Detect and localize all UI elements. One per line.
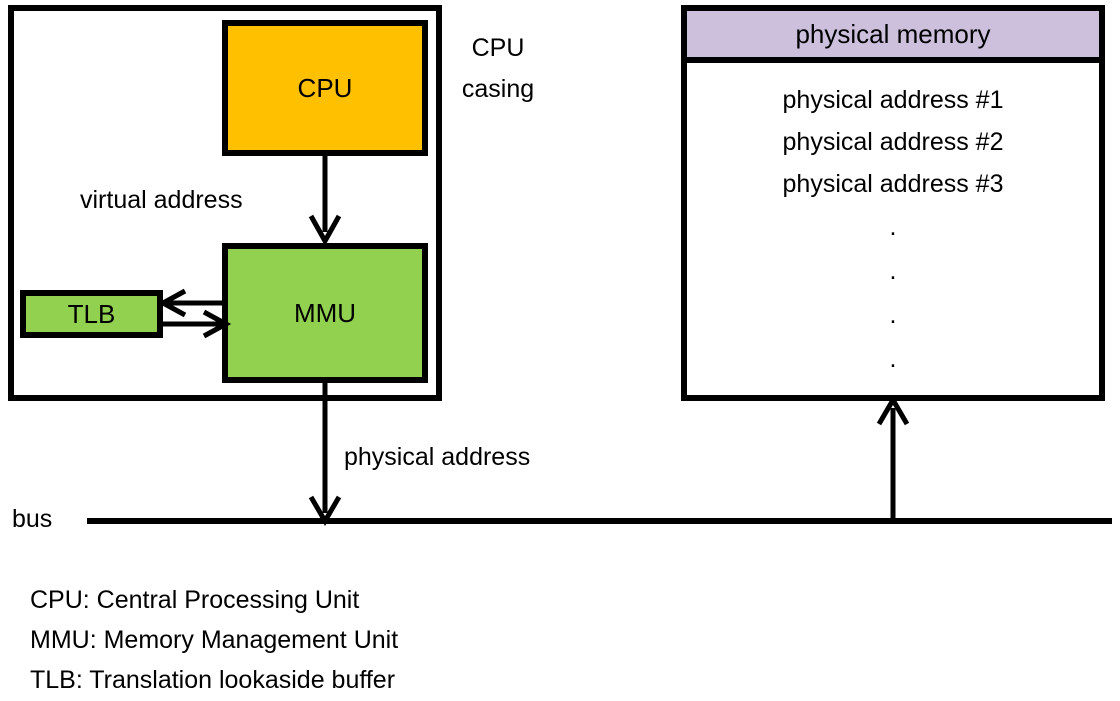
- legend-item-mmu: MMU: Memory Management Unit: [30, 620, 650, 660]
- memory-ellipsis-dot: .: [687, 205, 1099, 249]
- memory-row: physical address #2: [687, 121, 1099, 163]
- tlb-block[interactable]: TLB: [20, 290, 163, 338]
- tlb-block-label: TLB: [68, 301, 116, 327]
- mmu-block-label: MMU: [294, 300, 356, 326]
- cpu-block[interactable]: CPU: [222, 20, 428, 156]
- diagram-canvas: CPU MMU TLB physical memory physical add…: [0, 0, 1120, 701]
- physical-memory-header-label: physical memory: [795, 21, 990, 47]
- memory-ellipsis-dot: .: [687, 249, 1099, 293]
- arrow-bus-to-memory: [879, 400, 907, 521]
- cpu-casing-label-line2: casing: [440, 69, 556, 110]
- memory-row: physical address #3: [687, 163, 1099, 205]
- memory-ellipsis-dot: .: [687, 293, 1099, 337]
- bus-label: bus: [12, 507, 52, 532]
- physical-memory-header: physical memory: [687, 11, 1099, 63]
- physical-address-edge-label: physical address: [344, 445, 530, 470]
- memory-row: physical address #1: [687, 79, 1099, 121]
- cpu-block-label: CPU: [298, 75, 353, 101]
- legend-item-cpu: CPU: Central Processing Unit: [30, 580, 650, 620]
- physical-memory-body: physical address #1 physical address #2 …: [687, 63, 1099, 395]
- legend-item-tlb: TLB: Translation lookaside buffer: [30, 660, 650, 700]
- virtual-address-edge-label: virtual address: [80, 188, 243, 213]
- mmu-block[interactable]: MMU: [222, 243, 428, 383]
- legend: CPU: Central Processing Unit MMU: Memory…: [30, 580, 650, 700]
- cpu-casing-label-line1: CPU: [440, 28, 556, 69]
- memory-ellipsis-dot: .: [687, 337, 1099, 381]
- cpu-casing-label: CPU casing: [440, 28, 556, 110]
- physical-memory-block[interactable]: physical memory physical address #1 phys…: [681, 5, 1105, 401]
- arrow-mmu-to-bus: [311, 383, 339, 521]
